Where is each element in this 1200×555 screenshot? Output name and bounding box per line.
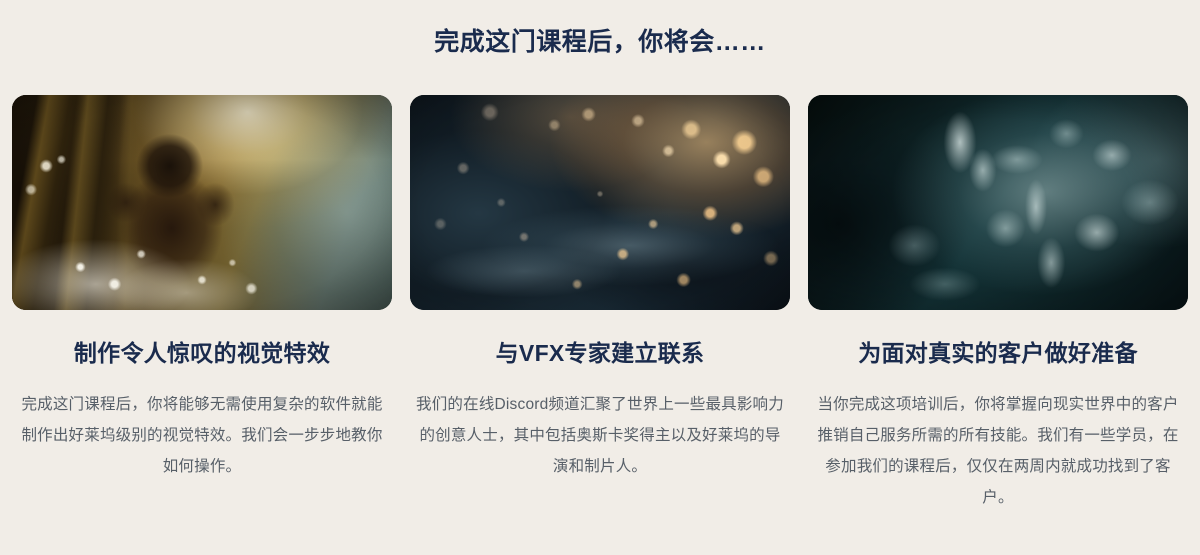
benefit-card: 为面对真实的客户做好准备 当你完成这项培训后，你将掌握向现实世界中的客户推销自己… [808, 95, 1188, 513]
benefit-card-title: 与VFX专家建立联系 [496, 339, 705, 368]
benefit-card-body: 完成这门课程后，你将能够无需使用复杂的软件就能制作出好莱坞级别的视觉特效。我们会… [15, 389, 389, 482]
vfx-waterfall-figure-image [12, 95, 392, 310]
benefit-card-title: 为面对真实的客户做好准备 [858, 339, 1138, 368]
benefit-card-title: 制作令人惊叹的视觉特效 [74, 339, 330, 368]
benefit-card: 制作令人惊叹的视觉特效 完成这门课程后，你将能够无需使用复杂的软件就能制作出好莱… [12, 95, 392, 482]
image-water-spray-layer [12, 95, 392, 310]
benefit-cards-row: 制作令人惊叹的视觉特效 完成这门课程后，你将能够无需使用复杂的软件就能制作出好莱… [12, 95, 1188, 513]
vfx-nebula-particles-image [410, 95, 790, 310]
benefit-card-body: 我们的在线Discord频道汇聚了世界上一些最具影响力的创意人士，其中包括奥斯卡… [413, 389, 787, 482]
image-vignette [808, 95, 1188, 310]
section-heading: 完成这门课程后，你将会…… [0, 27, 1200, 57]
image-bokeh-layer [410, 95, 790, 310]
benefit-card-body: 当你完成这项培训后，你将掌握向现实世界中的客户推销自己服务所需的所有技能。我们有… [811, 389, 1185, 513]
promo-section: 完成这门课程后，你将会…… 制作令人惊叹的视觉特效 完成这门课程后，你将能够无需… [0, 0, 1200, 555]
vfx-teal-smoke-image [808, 95, 1188, 310]
benefit-card: 与VFX专家建立联系 我们的在线Discord频道汇聚了世界上一些最具影响力的创… [410, 95, 790, 482]
